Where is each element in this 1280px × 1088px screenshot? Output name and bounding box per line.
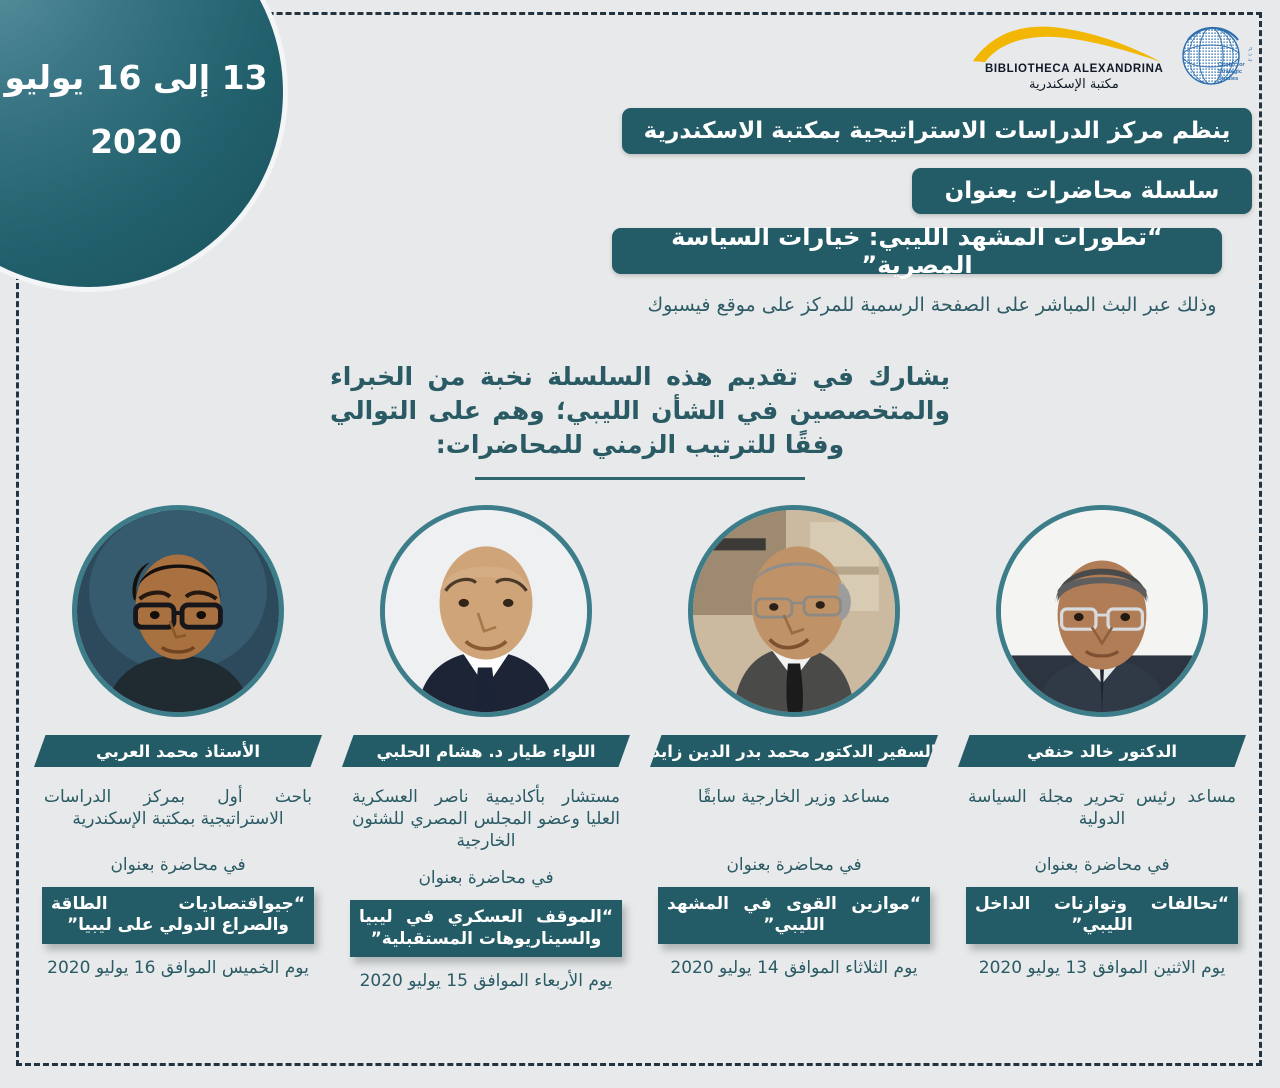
bibliotheca-arc-icon [969, 21, 1164, 65]
date-badge-line2: 2020 [90, 124, 182, 160]
lecture-label: في محاضرة بعنوان [726, 855, 861, 875]
series-banner: سلسلة محاضرات بعنوان [912, 168, 1252, 214]
lecture-date: يوم الاثنين الموافق 13 يوليو 2020 [968, 958, 1236, 979]
svg-text:مركز: مركز [1247, 46, 1252, 52]
speaker-name-banner: اللواء طيار د. هشام الحلبي [342, 735, 630, 767]
bibliotheca-name-ar: مكتبة الإسكندرية [1029, 77, 1119, 92]
speakers-row: الدكتور خالد حنفي مساعد رئيس تحرير مجلة … [0, 505, 1280, 992]
bibliotheca-name-en: BIBLIOTHECA ALEXANDRINA [985, 63, 1163, 75]
avatar [996, 505, 1208, 717]
avatar [72, 505, 284, 717]
speaker-card: الدكتور خالد حنفي مساعد رئيس تحرير مجلة … [958, 505, 1246, 992]
globe-icon: Center for Strategic Studies مركز الدراس… [1178, 20, 1252, 94]
live-broadcast-note: وذلك عبر البث المباشر على الصفحة الرسمية… [612, 294, 1252, 316]
portrait-mohamed-badreldin-zayed-image [693, 510, 895, 712]
svg-text:Center for: Center for [1218, 62, 1246, 68]
intro-paragraph: يشارك في تقديم هذه السلسلة نخبة من الخبر… [330, 360, 950, 461]
speaker-role: باحث أول بمركز الدراسات الاستراتيجية بمك… [44, 787, 312, 839]
date-badge: 13 إلى 16 يوليو 2020 [0, 0, 288, 292]
speaker-name-banner: الدكتور خالد حنفي [958, 735, 1246, 767]
lecture-label: في محاضرة بعنوان [418, 868, 553, 888]
poster-root: 13 إلى 16 يوليو 2020 BIBLIOTHECA ALEXAND… [0, 0, 1280, 1088]
svg-text:Studies: Studies [1218, 76, 1238, 82]
lecture-title: “موازين القوى في المشهد الليبي” [658, 887, 930, 944]
portrait-hisham-elhalaby-image [385, 510, 587, 712]
portrait-khaled-hanafy-image [1001, 510, 1203, 712]
lecture-label: في محاضرة بعنوان [110, 855, 245, 875]
section-divider [475, 477, 805, 480]
speaker-name-banner: السفير الدكتور محمد بدر الدين زايد [650, 735, 938, 767]
speaker-role: مستشار بأكاديمية ناصر العسكرية العليا وع… [352, 787, 620, 852]
speaker-card: اللواء طيار د. هشام الحلبي مستشار بأكادي… [342, 505, 630, 992]
lecture-series-title-banner: “تطورات المشهد الليبي: خيارات السياسة ال… [612, 228, 1222, 274]
lecture-date: يوم الثلاثاء الموافق 14 يوليو 2020 [660, 958, 928, 979]
speaker-card: السفير الدكتور محمد بدر الدين زايد مساعد… [650, 505, 938, 992]
portrait-mohamed-elaraby-image [77, 510, 279, 712]
avatar [688, 505, 900, 717]
date-badge-line1: 13 إلى 16 يوليو [4, 57, 267, 98]
avatar [380, 505, 592, 717]
lecture-label: في محاضرة بعنوان [1034, 855, 1169, 875]
lecture-title: “تحالفات وتوازنات الداخل الليبي” [966, 887, 1238, 944]
speaker-role: مساعد رئيس تحرير مجلة السياسة الدولية [968, 787, 1236, 839]
logo-group: BIBLIOTHECA ALEXANDRINA مكتبة الإسكندرية [969, 20, 1252, 94]
lecture-date: يوم الخميس الموافق 16 يوليو 2020 [44, 958, 312, 979]
lecture-date: يوم الأربعاء الموافق 15 يوليو 2020 [352, 971, 620, 992]
svg-text:Strategic: Strategic [1218, 69, 1242, 75]
bibliotheca-alexandrina-logo: BIBLIOTHECA ALEXANDRINA مكتبة الإسكندرية [969, 21, 1164, 93]
svg-text:الاستراتيجية: الاستراتيجية [1248, 58, 1252, 63]
speaker-role: مساعد وزير الخارجية سابقًا [660, 787, 928, 839]
speaker-name-banner: الأستاذ محمد العربي [34, 735, 322, 767]
organizer-banner: ينظم مركز الدراسات الاستراتيجية بمكتبة ا… [622, 108, 1252, 154]
svg-text:الدراسات: الدراسات [1248, 53, 1252, 58]
center-for-strategic-studies-logo: Center for Strategic Studies مركز الدراس… [1178, 20, 1252, 94]
lecture-title: “الموقف العسكري في ليبيا والسيناريوهات ا… [350, 900, 622, 957]
lecture-title: “جيواقتصاديات الطاقة والصراع الدولي على … [42, 887, 314, 944]
speaker-card: الأستاذ محمد العربي باحث أول بمركز الدرا… [34, 505, 322, 992]
